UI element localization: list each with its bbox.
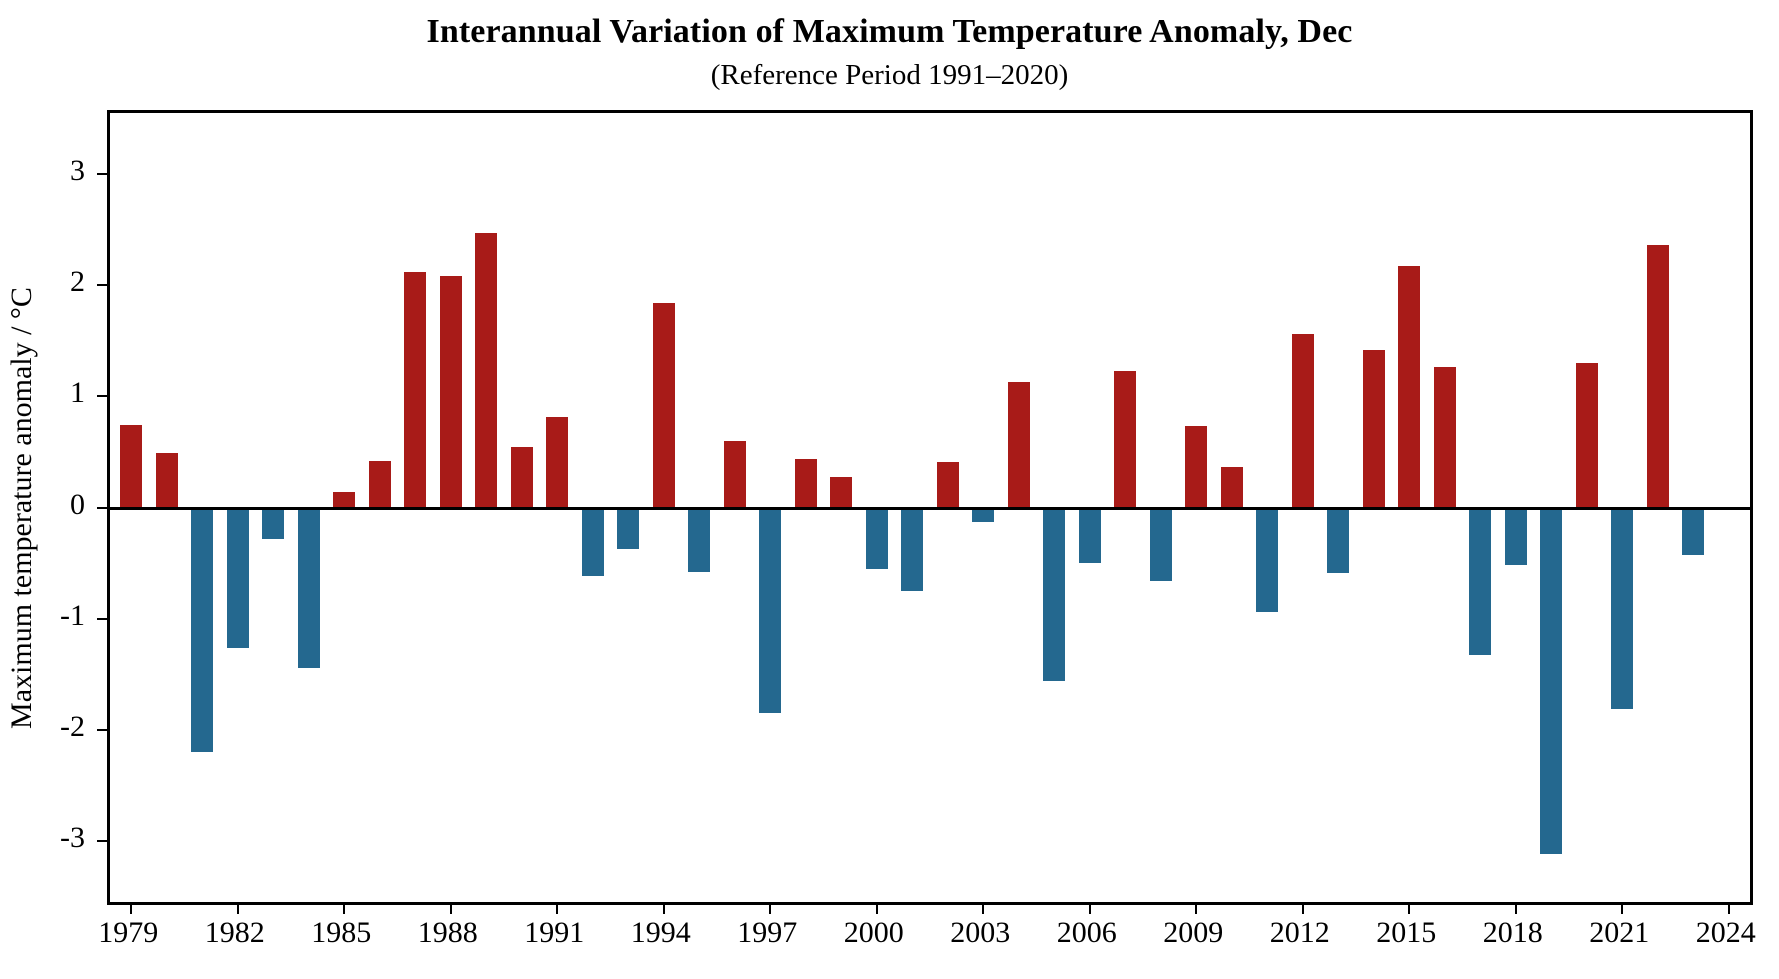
y-tick-mark: [97, 284, 110, 286]
bar-1983: [262, 508, 284, 539]
x-tick-mark: [1195, 902, 1197, 914]
x-tick-label: 2024: [1696, 918, 1756, 948]
bar-2022: [1647, 245, 1669, 507]
bar-1993: [617, 508, 639, 549]
bar-1991: [546, 417, 568, 507]
bar-2023: [1682, 508, 1704, 556]
bar-2014: [1363, 350, 1385, 508]
bar-2017: [1469, 508, 1491, 656]
bar-1986: [369, 461, 391, 508]
x-tick-label: 2021: [1589, 918, 1649, 948]
x-tick-label: 2000: [844, 918, 904, 948]
x-tick-mark: [556, 902, 558, 914]
bar-1979: [120, 425, 142, 507]
x-tick-mark: [663, 902, 665, 914]
x-tick-label: 1982: [205, 918, 265, 948]
x-tick-mark: [130, 902, 132, 914]
zero-baseline: [110, 507, 1750, 510]
x-tick-mark: [1089, 902, 1091, 914]
bar-2015: [1398, 266, 1420, 507]
bar-2013: [1327, 508, 1349, 574]
bar-2020: [1576, 363, 1598, 507]
bar-1996: [724, 441, 746, 508]
x-tick-mark: [343, 902, 345, 914]
bar-2000: [866, 508, 888, 569]
bar-1997: [759, 508, 781, 714]
bar-1988: [440, 276, 462, 507]
bar-2001: [901, 508, 923, 591]
x-tick-mark: [450, 902, 452, 914]
bar-1982: [227, 508, 249, 648]
x-tick-label: 2003: [950, 918, 1010, 948]
bar-1980: [156, 453, 178, 507]
y-tick-mark: [97, 840, 110, 842]
bar-2012: [1292, 334, 1314, 507]
bar-1999: [830, 477, 852, 507]
x-tick-mark: [1408, 902, 1410, 914]
bar-2006: [1079, 508, 1101, 564]
chart-subtitle: (Reference Period 1991–2020): [0, 56, 1779, 94]
x-tick-label: 2009: [1163, 918, 1223, 948]
x-tick-mark: [982, 902, 984, 914]
bar-1995: [688, 508, 710, 572]
y-tick-label: 3: [70, 156, 85, 186]
y-tick-mark: [97, 618, 110, 620]
bar-1990: [511, 447, 533, 507]
x-tick-label: 1994: [631, 918, 691, 948]
x-tick-label: 2015: [1376, 918, 1436, 948]
bar-2021: [1611, 508, 1633, 709]
x-tick-label: 1991: [524, 918, 584, 948]
bar-2003: [972, 508, 994, 522]
y-axis-tick-labels: 3210-1-2-3: [0, 110, 107, 905]
bar-2016: [1434, 367, 1456, 507]
x-tick-mark: [769, 902, 771, 914]
y-tick-mark: [97, 507, 110, 509]
y-tick-mark: [97, 395, 110, 397]
x-tick-label: 1985: [311, 918, 371, 948]
bar-1987: [404, 272, 426, 508]
bar-1989: [475, 233, 497, 507]
bar-2011: [1256, 508, 1278, 612]
y-tick-mark: [97, 173, 110, 175]
x-tick-mark: [1728, 902, 1730, 914]
x-tick-label: 2006: [1057, 918, 1117, 948]
y-tick-label: -3: [60, 823, 85, 853]
y-tick-label: 0: [70, 490, 85, 520]
x-tick-label: 2012: [1270, 918, 1330, 948]
x-tick-mark: [1621, 902, 1623, 914]
y-tick-mark: [97, 729, 110, 731]
y-tick-label: 2: [70, 267, 85, 297]
x-tick-mark: [876, 902, 878, 914]
bar-2010: [1221, 467, 1243, 507]
x-tick-mark: [237, 902, 239, 914]
bar-2007: [1114, 371, 1136, 508]
bar-2002: [937, 462, 959, 508]
chart-figure: Interannual Variation of Maximum Tempera…: [0, 0, 1779, 979]
bar-1992: [582, 508, 604, 577]
bar-1981: [191, 508, 213, 752]
bar-2005: [1043, 508, 1065, 681]
x-tick-mark: [1302, 902, 1304, 914]
y-tick-label: -2: [60, 712, 85, 742]
x-axis-tick-labels: 1979198219851988199119941997200020032006…: [107, 918, 1753, 968]
bar-1994: [653, 303, 675, 507]
bar-2004: [1008, 382, 1030, 508]
x-tick-label: 1988: [418, 918, 478, 948]
y-tick-label: -1: [60, 601, 85, 631]
x-tick-label: 1979: [98, 918, 158, 948]
x-tick-label: 1997: [737, 918, 797, 948]
bar-2019: [1540, 508, 1562, 855]
bar-1985: [333, 492, 355, 508]
x-tick-mark: [1515, 902, 1517, 914]
bar-2018: [1505, 508, 1527, 566]
x-tick-label: 2018: [1483, 918, 1543, 948]
bar-1984: [298, 508, 320, 668]
bar-2008: [1150, 508, 1172, 581]
plot-area: [107, 110, 1753, 905]
bar-2009: [1185, 426, 1207, 507]
title-block: Interannual Variation of Maximum Tempera…: [0, 12, 1779, 94]
y-tick-label: 1: [70, 378, 85, 408]
bar-1998: [795, 459, 817, 508]
page-title: Interannual Variation of Maximum Tempera…: [0, 12, 1779, 52]
